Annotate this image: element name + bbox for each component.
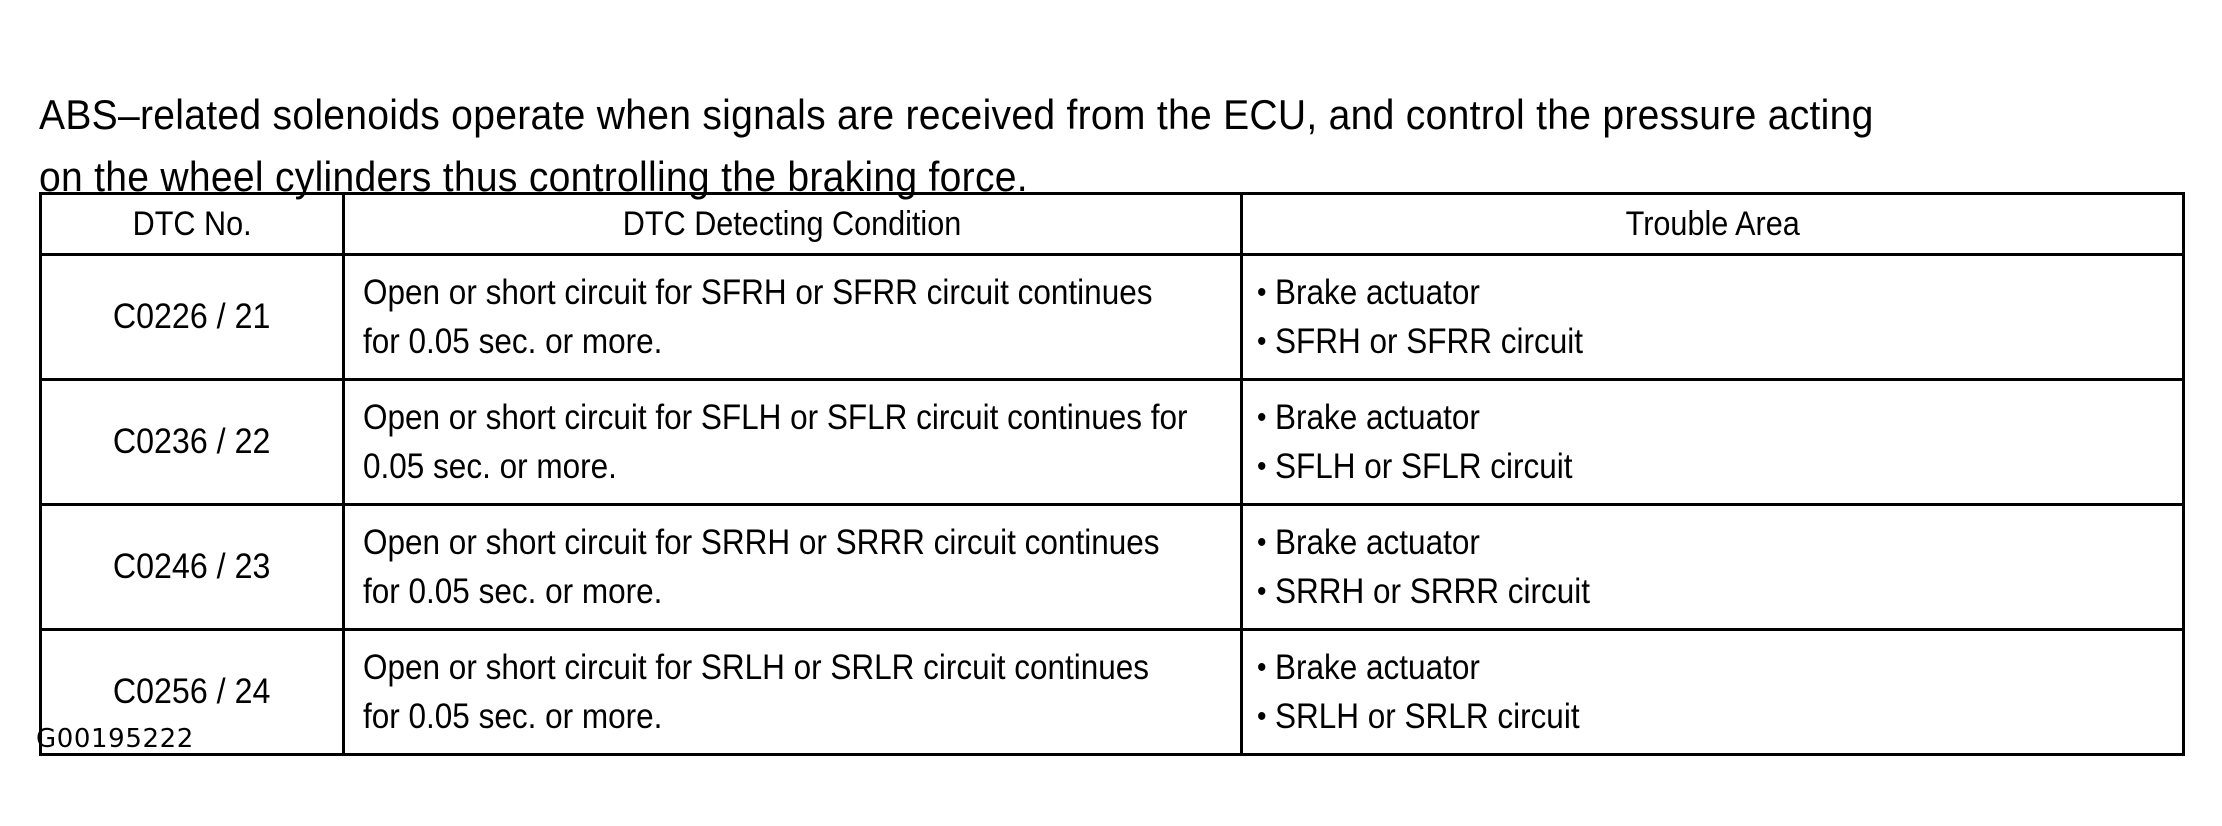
column-header-condition: DTC Detecting Condition xyxy=(344,194,1242,255)
trouble-area-text: Brake actuator xyxy=(1275,398,1480,437)
trouble-area-item: •Brake actuator xyxy=(1257,268,2077,317)
cell-trouble-area: •Brake actuator •SFLH or SFLR circuit xyxy=(1242,380,2184,505)
column-header-trouble-area-label: Trouble Area xyxy=(1625,205,1799,244)
condition-line: Open or short circuit for SRLH or SRLR c… xyxy=(363,643,1140,692)
figure-caption: G00195222 xyxy=(36,724,194,754)
condition-line: Open or short circuit for SRRH or SRRR c… xyxy=(363,518,1140,567)
condition-line: Open or short circuit for SFRH or SFRR c… xyxy=(363,268,1140,317)
condition-line: for 0.05 sec. or more. xyxy=(363,317,1140,366)
cell-dtc-no: C0226 / 21 xyxy=(41,255,344,380)
trouble-area-item: •Brake actuator xyxy=(1257,518,2077,567)
trouble-area-item: •SFRH or SFRR circuit xyxy=(1257,317,2077,366)
condition-line: for 0.05 sec. or more. xyxy=(363,692,1140,741)
column-header-dtc-no-label: DTC No. xyxy=(132,205,251,244)
cell-detecting-condition: Open or short circuit for SRLH or SRLR c… xyxy=(344,630,1242,755)
bullet-icon: • xyxy=(1257,518,1275,567)
cell-trouble-area: •Brake actuator •SRLH or SRLR circuit xyxy=(1242,630,2184,755)
cell-detecting-condition: Open or short circuit for SFRH or SFRR c… xyxy=(344,255,1242,380)
trouble-area-text: SRRH or SRRR circuit xyxy=(1275,572,1590,611)
trouble-area-text: Brake actuator xyxy=(1275,523,1480,562)
trouble-area-text: SRLH or SRLR circuit xyxy=(1275,697,1580,736)
cell-trouble-area: •Brake actuator •SFRH or SFRR circuit xyxy=(1242,255,2184,380)
table-row: C0236 / 22 Open or short circuit for SFL… xyxy=(41,380,2184,505)
condition-line: 0.05 sec. or more. xyxy=(363,442,1140,491)
bullet-icon: • xyxy=(1257,442,1275,491)
table-row: C0246 / 23 Open or short circuit for SRR… xyxy=(41,505,2184,630)
condition-line: for 0.05 sec. or more. xyxy=(363,567,1140,616)
trouble-area-item: •SFLH or SFLR circuit xyxy=(1257,442,2077,491)
bullet-icon: • xyxy=(1257,643,1275,692)
bullet-icon: • xyxy=(1257,317,1275,366)
trouble-area-item: •SRLH or SRLR circuit xyxy=(1257,692,2077,741)
dtc-code: C0256 / 24 xyxy=(113,672,271,712)
cell-dtc-no: C0236 / 22 xyxy=(41,380,344,505)
column-header-trouble-area: Trouble Area xyxy=(1242,194,2184,255)
bullet-icon: • xyxy=(1257,692,1275,741)
bullet-icon: • xyxy=(1257,567,1275,616)
cell-detecting-condition: Open or short circuit for SFLH or SFLR c… xyxy=(344,380,1242,505)
dtc-table: DTC No. DTC Detecting Condition Trouble … xyxy=(39,192,2185,756)
column-header-condition-label: DTC Detecting Condition xyxy=(623,205,961,244)
trouble-area-item: •Brake actuator xyxy=(1257,393,2077,442)
intro-line-1: ABS–related solenoids operate when signa… xyxy=(39,84,2039,146)
cell-dtc-no: C0246 / 23 xyxy=(41,505,344,630)
trouble-area-text: Brake actuator xyxy=(1275,273,1480,312)
condition-line: Open or short circuit for SFLH or SFLR c… xyxy=(363,393,1140,442)
cell-detecting-condition: Open or short circuit for SRRH or SRRR c… xyxy=(344,505,1242,630)
dtc-code: C0236 / 22 xyxy=(113,422,271,462)
table-header: DTC No. DTC Detecting Condition Trouble … xyxy=(41,194,2184,255)
trouble-area-item: •Brake actuator xyxy=(1257,643,2077,692)
trouble-area-text: Brake actuator xyxy=(1275,648,1480,687)
trouble-area-item: •SRRH or SRRR circuit xyxy=(1257,567,2077,616)
table-row: C0226 / 21 Open or short circuit for SFR… xyxy=(41,255,2184,380)
intro-paragraph: ABS–related solenoids operate when signa… xyxy=(39,84,2189,208)
trouble-area-text: SFLH or SFLR circuit xyxy=(1275,447,1573,486)
document-page: ABS–related solenoids operate when signa… xyxy=(0,0,2222,826)
bullet-icon: • xyxy=(1257,268,1275,317)
table-header-row: DTC No. DTC Detecting Condition Trouble … xyxy=(41,194,2184,255)
dtc-code: C0226 / 21 xyxy=(113,297,271,337)
bullet-icon: • xyxy=(1257,393,1275,442)
dtc-code: C0246 / 23 xyxy=(113,547,271,587)
table-row: C0256 / 24 Open or short circuit for SRL… xyxy=(41,630,2184,755)
cell-trouble-area: •Brake actuator •SRRH or SRRR circuit xyxy=(1242,505,2184,630)
table-body: C0226 / 21 Open or short circuit for SFR… xyxy=(41,255,2184,755)
column-header-dtc-no: DTC No. xyxy=(41,194,344,255)
trouble-area-text: SFRH or SFRR circuit xyxy=(1275,322,1583,361)
